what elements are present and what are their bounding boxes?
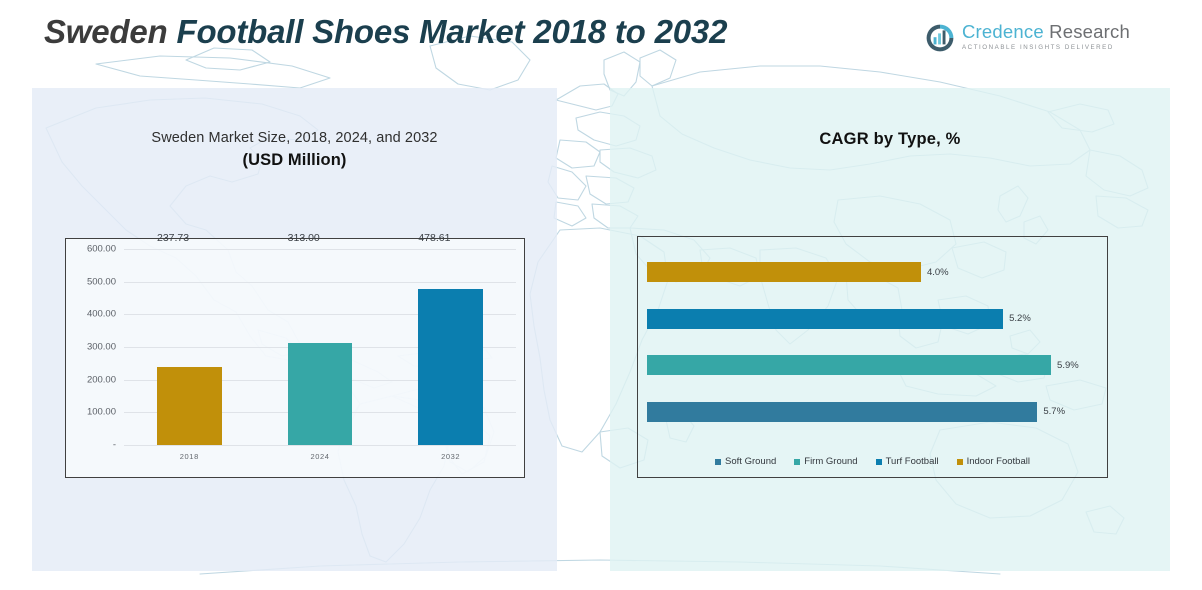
bar-value-label: 4.0% (927, 267, 949, 278)
market-size-plot-area: 600.00500.00400.00300.00200.00100.00-237… (124, 249, 516, 445)
bar-value-label: 237.73 (157, 232, 189, 244)
x-axis-tick-label: 2024 (310, 452, 329, 461)
bar-value-label: 5.2% (1009, 313, 1031, 324)
bar-row: 5.2% (647, 309, 1099, 329)
legend-swatch-icon (957, 459, 963, 465)
bar-value-label: 5.9% (1057, 360, 1079, 371)
y-axis-tick-label: 200.00 (87, 374, 116, 385)
y-axis-tick-label: 500.00 (87, 276, 116, 287)
legend-item[interactable]: Firm Ground (794, 456, 857, 467)
right-panel: CAGR by Type, % 4.0%5.2%5.9%5.7% Soft Gr… (610, 88, 1170, 571)
legend-swatch-icon (876, 459, 882, 465)
cagr-by-type-bar-chart: 4.0%5.2%5.9%5.7% Soft GroundFirm GroundT… (637, 236, 1108, 478)
left-chart-title-line-2: (USD Million) (32, 151, 557, 170)
bar-value-label: 313.00 (288, 232, 320, 244)
legend-swatch-icon (715, 459, 721, 465)
bar-value-label: 478.61 (418, 232, 450, 244)
bar (647, 402, 1037, 422)
legend-swatch-icon (794, 459, 800, 465)
bar: 237.73 (157, 367, 222, 445)
y-axis-tick-label: - (113, 440, 116, 451)
header: Sweden Football Shoes Market 2018 to 203… (0, 0, 1202, 84)
bar-column: 478.612032 (418, 249, 483, 445)
credence-research-logo: Credence Research Actionable Insights De… (925, 22, 1115, 66)
bar-row: 4.0% (647, 262, 1099, 282)
bar: 313.00 (288, 343, 353, 445)
bar-column: 313.002024 (288, 249, 353, 445)
page-title-country: Sweden (44, 13, 168, 50)
left-chart-title-line-1: Sweden Market Size, 2018, 2024, and 2032 (32, 130, 557, 146)
legend-label: Firm Ground (804, 456, 857, 467)
bar (647, 355, 1051, 375)
logo-tagline: Actionable Insights Delivered (962, 44, 1130, 51)
page-title-subject: Football Shoes Market 2018 to 2032 (176, 13, 727, 50)
bar-value-label: 5.7% (1043, 406, 1065, 417)
legend-label: Soft Ground (725, 456, 776, 467)
x-axis-tick-label: 2032 (441, 452, 460, 461)
right-chart-heading: CAGR by Type, % (610, 130, 1170, 149)
legend-label: Indoor Football (967, 456, 1030, 467)
market-size-bar-chart: 600.00500.00400.00300.00200.00100.00-237… (65, 238, 525, 478)
credence-circle-bar-chart-logo-icon (925, 23, 955, 53)
bar-row: 5.7% (647, 402, 1099, 422)
x-axis-tick-label: 2018 (180, 452, 199, 461)
legend-item[interactable]: Soft Ground (715, 456, 776, 467)
logo-wordmark: Credence Research (962, 22, 1130, 42)
bar (647, 262, 921, 282)
page-title: Sweden Football Shoes Market 2018 to 203… (44, 13, 727, 51)
cagr-legend: Soft GroundFirm GroundTurf FootballIndoo… (638, 456, 1107, 467)
legend-label: Turf Football (886, 456, 939, 467)
y-axis-tick-label: 400.00 (87, 309, 116, 320)
left-chart-heading: Sweden Market Size, 2018, 2024, and 2032… (32, 130, 557, 170)
right-chart-title: CAGR by Type, % (610, 130, 1170, 149)
legend-item[interactable]: Turf Football (876, 456, 939, 467)
y-axis-tick-label: 100.00 (87, 407, 116, 418)
legend-item[interactable]: Indoor Football (957, 456, 1030, 467)
bar: 478.61 (418, 289, 483, 445)
logo-text: Credence Research Actionable Insights De… (962, 22, 1130, 51)
left-panel: Sweden Market Size, 2018, 2024, and 2032… (32, 88, 557, 571)
bar (647, 309, 1003, 329)
y-axis-tick-label: 300.00 (87, 342, 116, 353)
cagr-plot-area: 4.0%5.2%5.9%5.7% (647, 249, 1099, 435)
gridline: - (124, 445, 516, 446)
bar-column: 237.732018 (157, 249, 222, 445)
infographic-root: Sweden Football Shoes Market 2018 to 203… (0, 0, 1202, 590)
bar-row: 5.9% (647, 355, 1099, 375)
logo-word-credence: Credence (962, 21, 1044, 42)
y-axis-tick-label: 600.00 (87, 244, 116, 255)
logo-word-research: Research (1049, 21, 1130, 42)
